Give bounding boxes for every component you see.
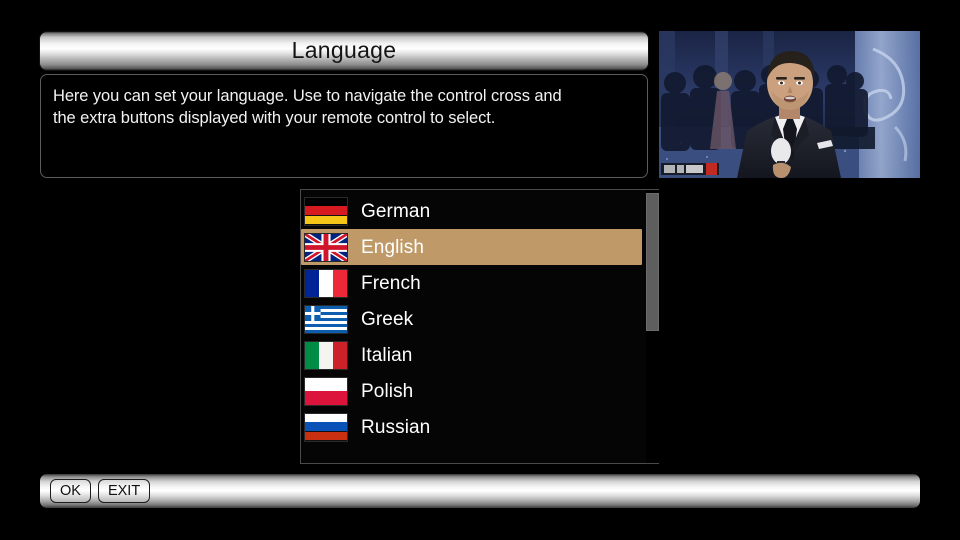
video-preview-frame [659, 31, 920, 178]
ok-button-label: OK [60, 484, 81, 499]
list-item-english[interactable]: English [301, 229, 642, 265]
list-item-label: Greek [361, 310, 413, 329]
list-item-french[interactable]: French [301, 265, 658, 301]
channel-logo-bug [661, 163, 719, 175]
list-item-label: German [361, 202, 430, 221]
list-item-german[interactable]: German [301, 193, 658, 229]
video-preview[interactable] [659, 31, 920, 178]
page-title: Language [292, 39, 397, 62]
list-scrollbar-thumb[interactable] [646, 193, 659, 331]
list-item-russian[interactable]: Russian [301, 409, 658, 445]
exit-button[interactable]: EXIT [98, 479, 150, 503]
tv-osd-screen: Language Here you can set your language.… [0, 0, 960, 540]
flag-pl-icon [304, 377, 348, 406]
flag-ru-icon [304, 413, 348, 442]
ok-button[interactable]: OK [50, 479, 91, 503]
language-list[interactable]: German English [300, 189, 659, 464]
list-item-label: Russian [361, 418, 430, 437]
list-item-greek[interactable]: Greek [301, 301, 658, 337]
list-item-label: English [361, 238, 424, 257]
list-item-italian[interactable]: Italian [301, 337, 658, 373]
list-item-label: Italian [361, 346, 412, 365]
list-scrollbar-track[interactable] [646, 190, 659, 463]
flag-gb-icon [304, 233, 348, 262]
exit-button-label: EXIT [108, 484, 140, 499]
list-item-label: French [361, 274, 421, 293]
list-item-label: Polish [361, 382, 413, 401]
flag-it-icon [304, 341, 348, 370]
flag-fr-icon [304, 269, 348, 298]
title-bar: Language [40, 32, 648, 70]
flag-gr-icon [304, 305, 348, 334]
list-item-polish[interactable]: Polish [301, 373, 658, 409]
softkey-bar: OK EXIT [40, 474, 920, 508]
flag-de-icon [304, 197, 348, 226]
help-text: Here you can set your language. Use to n… [53, 86, 634, 130]
help-text-box: Here you can set your language. Use to n… [40, 74, 648, 178]
